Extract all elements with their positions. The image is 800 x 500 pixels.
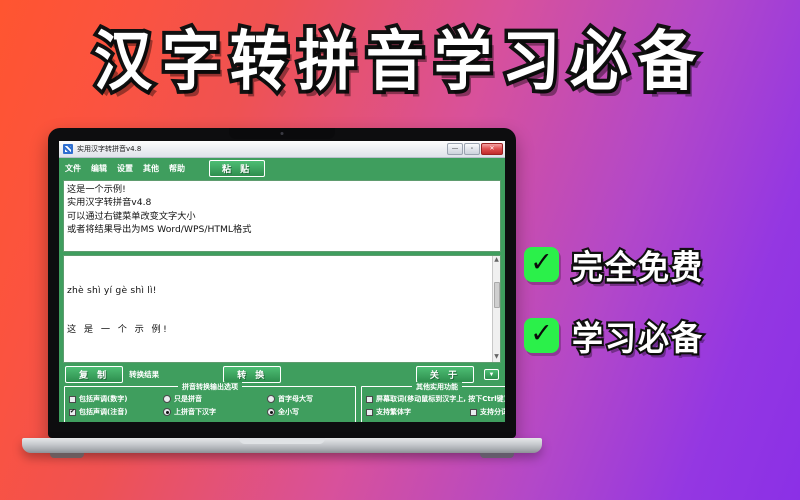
window-title: 实用汉字转拼音v4.8 [77,144,141,154]
badge-label: 学习必备 [572,311,704,360]
output-line: 这 是 一 个 示 例! [67,323,491,336]
minimize-button[interactable]: — [447,143,463,155]
output-scrollbar[interactable]: ▲ ▼ [492,256,500,362]
close-button[interactable]: ✕ [481,143,503,155]
radio-pinyin-only[interactable]: 只是拼音 [163,394,267,404]
app-logo-icon [63,144,73,154]
extra-features-group: 其他实用功能 屏幕取词(移动鼠标到汉字上, 按下Ctrl键) 支持繁体字 [361,386,505,422]
checkbox-icon[interactable] [470,409,477,416]
checkbox-screen-lookup[interactable]: 屏幕取词(移动鼠标到汉字上, 按下Ctrl键) [366,394,505,404]
radio-pinyin-above-hanzi[interactable]: 上拼音下汉字 [163,407,267,417]
checkbox-label: 支持分词 [480,407,505,417]
laptop-foot-left [50,453,84,458]
checkbox-label: 包括声调(注音) [79,407,127,417]
radio-icon[interactable] [267,395,275,403]
about-button[interactable]: 关 于 [416,366,474,383]
copy-button[interactable]: 复 制 [65,366,123,383]
checkbox-icon[interactable] [69,396,76,403]
scrollbar-thumb[interactable] [494,282,500,308]
laptop-mockup: 实用汉字转拼音v4.8 — ▫ ✕ 文件 编辑 设置 其他 帮助 粘 贴 这是一… [48,128,516,453]
menu-item-edit[interactable]: 编辑 [91,163,107,174]
check-glyph: ✓ [530,320,553,347]
checkbox-traditional-chinese[interactable]: 支持繁体字 [366,407,470,417]
radio-label: 全小写 [278,407,299,417]
options-row: 包括声调(数字) 只是拼音 首字母大写 [69,394,351,404]
radio-all-lowercase[interactable]: 全小写 [267,407,299,417]
output-line: zhè shì yí gè shì lì! [67,284,491,297]
chevron-down-icon[interactable]: ▼ [484,369,499,380]
checkbox-icon[interactable] [366,409,373,416]
laptop-notch [229,128,335,139]
page-title: 汉字转拼音学习必备 [0,29,800,94]
maximize-button[interactable]: ▫ [464,143,480,155]
result-label: 转换结果 [129,369,159,380]
pinyin-output-area[interactable]: zhè shì yí gè shì lì! 这 是 一 个 示 例! shí y… [63,255,501,363]
check-icon: ✓ [524,318,559,353]
window-controls: — ▫ ✕ [447,143,503,155]
badge-must-have: ✓ 学习必备 [524,313,704,358]
radio-label: 上拼音下汉字 [174,407,216,417]
options-row: 支持繁体字 支持分词 [366,407,505,417]
laptop-base [22,438,542,453]
checkbox-word-segmentation[interactable]: 支持分词 [470,407,505,417]
output-options-group: 拼音转换输出选项 包括声调(数字) 只是拼音 首字母大写 [64,386,356,422]
radio-label: 只是拼音 [174,394,202,404]
menu-item-other[interactable]: 其他 [143,163,159,174]
scroll-down-icon[interactable]: ▼ [494,353,499,362]
paste-button[interactable]: 粘 贴 [209,160,265,177]
convert-button[interactable]: 转 换 [223,366,281,383]
extra-features-title: 其他实用功能 [412,382,462,392]
scroll-up-icon[interactable]: ▲ [494,256,499,265]
output-options-title: 拼音转换输出选项 [178,382,242,392]
radio-icon[interactable] [163,408,171,416]
badge-free: ✓ 完全免费 [524,242,704,287]
checkbox-tone-diacritic[interactable]: 包括声调(注音) [69,407,163,417]
badge-label: 完全免费 [572,240,704,289]
laptop-lid: 实用汉字转拼音v4.8 — ▫ ✕ 文件 编辑 设置 其他 帮助 粘 贴 这是一… [48,128,516,438]
menu-item-file[interactable]: 文件 [65,163,81,174]
window-titlebar[interactable]: 实用汉字转拼音v4.8 — ▫ ✕ [59,141,505,158]
radio-icon[interactable] [267,408,275,416]
radio-capitalize-initial[interactable]: 首字母大写 [267,394,313,404]
checkbox-label: 包括声调(数字) [79,394,127,404]
menubar: 文件 编辑 设置 其他 帮助 粘 贴 [59,158,505,178]
checkbox-label: 支持繁体字 [376,407,411,417]
options-panels: 拼音转换输出选项 包括声调(数字) 只是拼音 首字母大写 [59,385,505,422]
menu-item-settings[interactable]: 设置 [117,163,133,174]
feature-badges: ✓ 完全免费 ✓ 学习必备 [524,242,704,384]
options-row: 屏幕取词(移动鼠标到汉字上, 按下Ctrl键) [366,394,505,404]
checkbox-icon[interactable] [69,409,76,416]
checkbox-label: 屏幕取词(移动鼠标到汉字上, 按下Ctrl键) [376,394,505,404]
checkbox-tone-numeric[interactable]: 包括声调(数字) [69,394,163,404]
check-icon: ✓ [524,247,559,282]
webcam-icon [281,132,284,135]
radio-icon[interactable] [163,395,171,403]
checkbox-icon[interactable] [366,396,373,403]
laptop-foot-right [480,453,514,458]
menu-item-help[interactable]: 帮助 [169,163,185,174]
options-row: 包括声调(注音) 上拼音下汉字 全小写 [69,407,351,417]
editor-area: 这是一个示例! 实用汉字转拼音v4.8 可以通过右键菜单改变文字大小 或者将结果… [59,178,505,363]
source-text-input[interactable]: 这是一个示例! 实用汉字转拼音v4.8 可以通过右键菜单改变文字大小 或者将结果… [63,180,501,252]
check-glyph: ✓ [530,249,553,276]
radio-label: 首字母大写 [278,394,313,404]
app-window: 实用汉字转拼音v4.8 — ▫ ✕ 文件 编辑 设置 其他 帮助 粘 贴 这是一… [59,141,505,422]
output-line: shí yòng hàn zì zhuǎn pīn yīn v4.8 [67,363,491,364]
